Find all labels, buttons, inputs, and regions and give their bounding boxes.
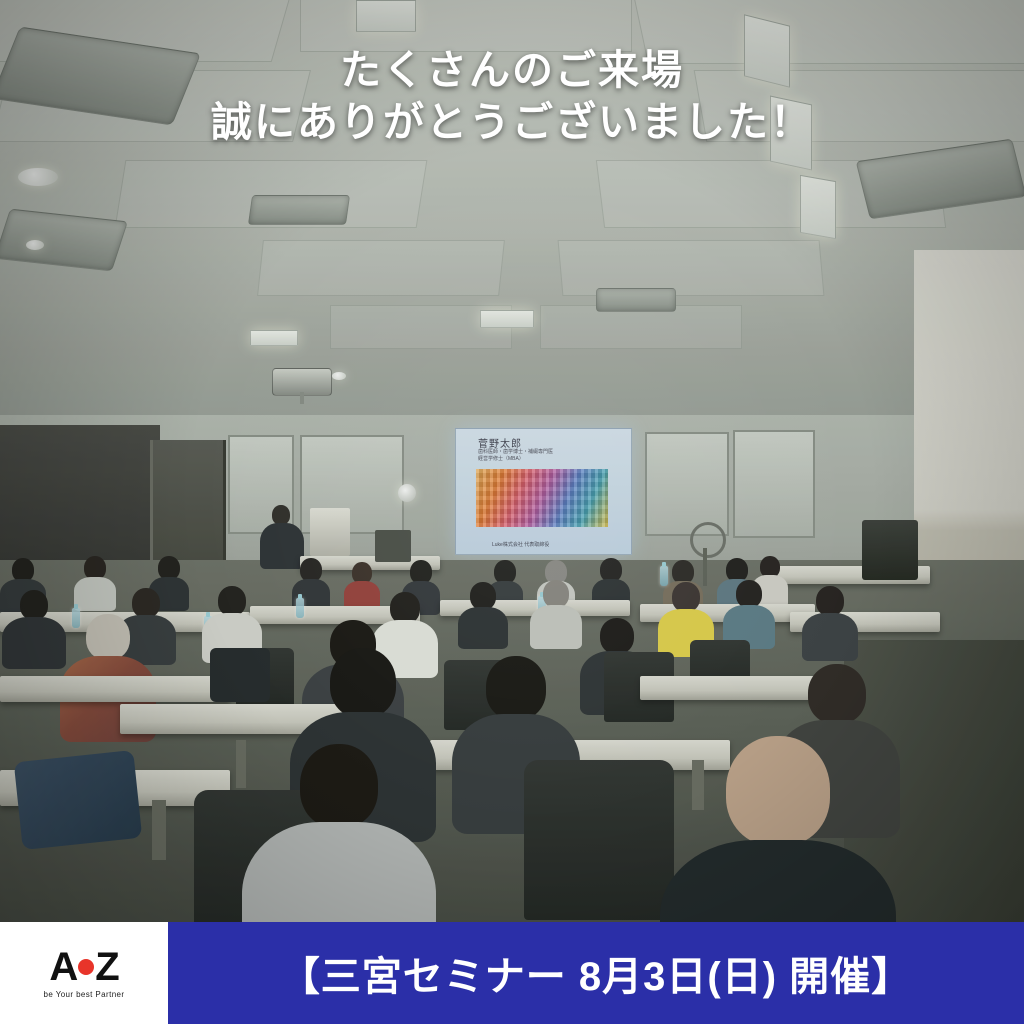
stand-ring [690, 522, 726, 558]
ceiling-light [250, 330, 298, 346]
head [470, 582, 496, 610]
room-door [150, 440, 226, 575]
head [726, 736, 830, 846]
bottom-bar: A Z be Your best Partner 【三宮セミナー 8月3日(日)… [0, 922, 1024, 1024]
head [543, 580, 569, 608]
seminar-photo: 菅野太郎 歯科医師・歯学博士・補綴専門医 経営学修士（MBA） Luke株式会社… [0, 0, 1024, 1024]
screen-illustration [476, 469, 608, 527]
poster-image: 菅野太郎 歯科医師・歯学博士・補綴専門医 経営学修士（MBA） Luke株式会社… [0, 0, 1024, 1024]
head [218, 586, 246, 616]
event-banner-text: 【三宮セミナー 8月3日(日) 開催】 [280, 944, 912, 1002]
body [802, 613, 858, 661]
head [600, 618, 634, 654]
bag [210, 648, 270, 702]
ceiling-light [356, 0, 416, 32]
screen-title: 菅野太郎 [478, 435, 522, 450]
body [530, 605, 582, 649]
table-leg [152, 800, 166, 860]
ceiling-vent [248, 195, 350, 225]
ceiling-light [800, 175, 836, 239]
head [816, 586, 844, 616]
ceiling-vent [596, 288, 676, 312]
wall-clock-icon [398, 484, 416, 502]
logo-letter-z: Z [95, 947, 118, 987]
head [300, 744, 378, 828]
ceiling-vent [0, 209, 128, 272]
ceiling-light [480, 310, 534, 328]
projector-mount [300, 392, 304, 404]
head [86, 614, 130, 660]
head [330, 648, 396, 718]
ceiling-panel [257, 240, 505, 296]
wall-window [733, 430, 815, 538]
table-leg [692, 760, 704, 810]
head [808, 664, 866, 724]
event-banner: 【三宮セミナー 8月3日(日) 開催】 [168, 922, 1024, 1024]
head [672, 582, 700, 612]
body [74, 577, 116, 611]
ceiling-sensor-icon [332, 372, 346, 380]
logo-mark: A Z [36, 947, 132, 987]
wall-window [645, 432, 729, 536]
brand-logo: A Z be Your best Partner [0, 922, 168, 1024]
av-equipment [862, 520, 918, 580]
equipment-box [375, 530, 411, 562]
logo-dot-icon [78, 959, 94, 975]
water-bottle [296, 598, 304, 618]
body [2, 617, 66, 669]
head [132, 588, 160, 618]
ceiling-vent [856, 139, 1024, 220]
headline-text: たくさんのご来場 誠にありがとうございました！ [0, 44, 1024, 148]
water-bottle [660, 566, 668, 586]
ceiling-speaker-icon [18, 168, 58, 186]
presenter-head [272, 505, 290, 525]
head [20, 590, 48, 620]
table-leg [236, 740, 246, 788]
ceiling-sensor-icon [26, 240, 44, 250]
screen-subtitle: 歯科医師・歯学博士・補綴専門医 経営学修士（MBA） [478, 449, 598, 463]
logo-letter-a: A [49, 947, 77, 987]
bag [14, 750, 143, 850]
water-bottle [72, 608, 80, 628]
head [736, 580, 762, 608]
screen-footer: Luke株式会社 代表取締役 [492, 541, 549, 548]
logo-tagline: be Your best Partner [44, 990, 125, 999]
stand-pole [703, 548, 707, 586]
body [458, 607, 508, 649]
table [640, 676, 820, 700]
whiteboard-cabinet [310, 508, 350, 556]
chair [524, 760, 674, 920]
head [486, 656, 546, 720]
presenter-body [260, 523, 304, 569]
table [0, 676, 230, 702]
projection-screen: 菅野太郎 歯科医師・歯学博士・補綴専門医 経営学修士（MBA） Luke株式会社… [455, 428, 632, 555]
